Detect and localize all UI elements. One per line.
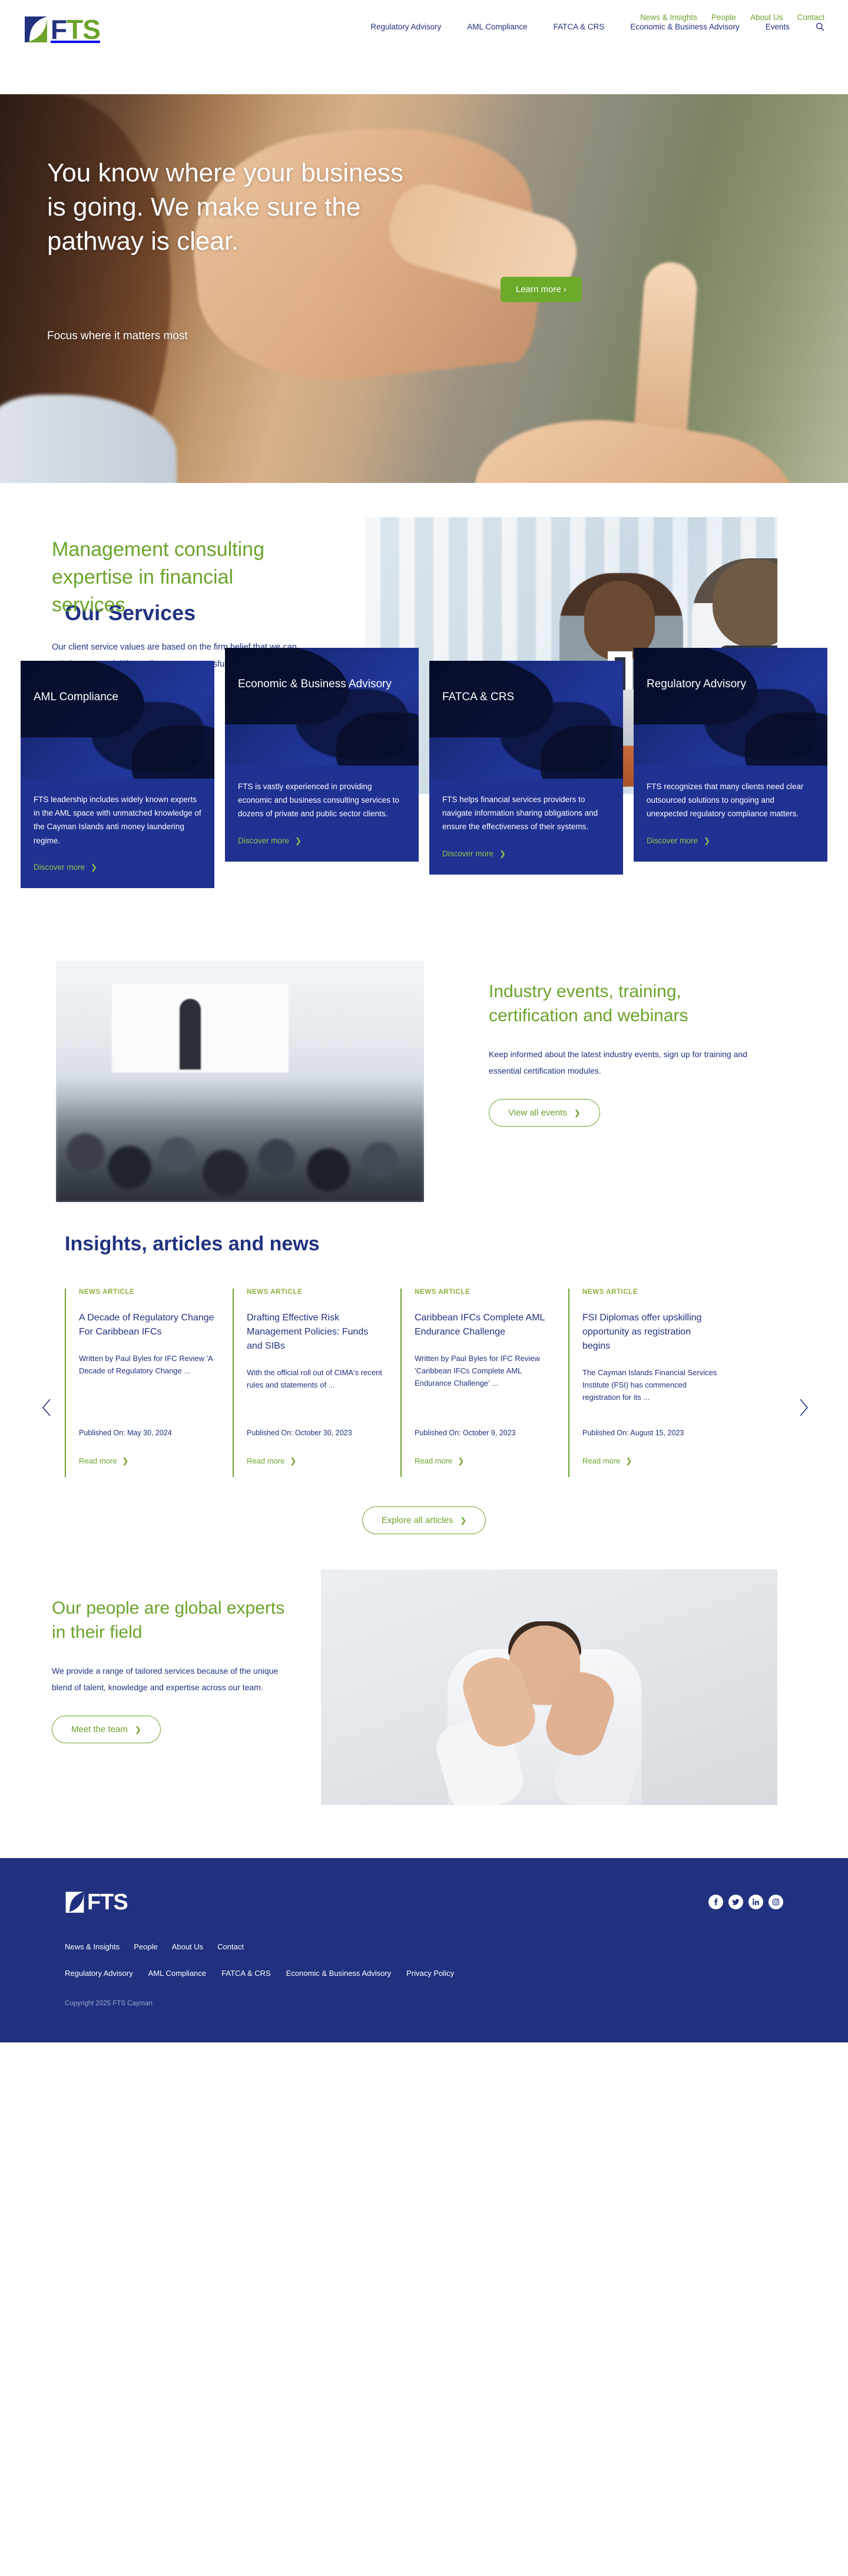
service-card-text: FTS recognizes that many clients need cl… bbox=[647, 780, 814, 821]
footer-nav-item-privacy-policy[interactable]: Privacy Policy bbox=[406, 1969, 454, 1978]
service-card-body: FTS is vastly experienced in providing e… bbox=[225, 766, 419, 862]
chevron-right-icon: ❯ bbox=[704, 837, 710, 845]
article-date: Published On: May 30, 2024 bbox=[79, 1429, 172, 1437]
hero-subtitle: Focus where it matters most bbox=[47, 330, 188, 343]
consulting-heading: Management consulting expertise in finan… bbox=[52, 536, 311, 619]
article-read-more-link[interactable]: Read more ❯ bbox=[79, 1456, 128, 1465]
people-photo bbox=[321, 1570, 777, 1805]
article-date: Published On: October 9, 2023 bbox=[415, 1429, 516, 1437]
article-read-more-link[interactable]: Read more ❯ bbox=[415, 1456, 464, 1465]
chevron-right-icon: ❯ bbox=[290, 1457, 296, 1465]
service-card-body: FTS helps financial services providers t… bbox=[429, 779, 623, 875]
service-card-image: AML Compliance bbox=[21, 661, 214, 779]
footer-logo[interactable]: FTS bbox=[65, 1890, 128, 1914]
service-card-discover-link[interactable]: Discover more ❯ bbox=[442, 849, 506, 858]
service-card-text: FTS leadership includes widely known exp… bbox=[34, 793, 201, 847]
utility-nav: News & Insights People About Us Contact bbox=[640, 13, 824, 22]
footer-nav-item-economic-business-advisory[interactable]: Economic & Business Advisory bbox=[286, 1969, 391, 1978]
events-heading: Industry events, training, certification… bbox=[489, 979, 748, 1028]
article-excerpt: With the official roll out of CIMA's rec… bbox=[247, 1366, 384, 1391]
chevron-right-icon: ❯ bbox=[122, 1457, 128, 1465]
events-section: Industry events, training, certification… bbox=[0, 944, 848, 1197]
chevron-right-icon: ❯ bbox=[458, 1457, 464, 1465]
service-card-text: FTS helps financial services providers t… bbox=[442, 793, 610, 834]
service-card-discover-link[interactable]: Discover more ❯ bbox=[647, 836, 710, 845]
nav-item-regulatory-advisory[interactable]: Regulatory Advisory bbox=[370, 22, 441, 31]
footer-nav-item-aml-compliance[interactable]: AML Compliance bbox=[148, 1969, 207, 1978]
article-kicker: NEWS ARTICLE bbox=[247, 1289, 384, 1296]
utility-nav-item-news-insights[interactable]: News & Insights bbox=[640, 13, 697, 22]
hero-background-photo bbox=[0, 94, 848, 483]
twitter-icon[interactable] bbox=[728, 1895, 743, 1909]
meet-the-team-button[interactable]: Meet the team ❯ bbox=[52, 1716, 161, 1743]
service-card-discover-label: Discover more bbox=[442, 849, 493, 858]
chevron-right-icon: ❯ bbox=[91, 863, 97, 871]
logo-wordmark: FTS bbox=[51, 16, 100, 43]
article-card[interactable]: NEWS ARTICLE A Decade of Regulatory Chan… bbox=[65, 1289, 233, 1477]
view-all-events-button[interactable]: View all events ❯ bbox=[489, 1099, 600, 1127]
nav-item-events[interactable]: Events bbox=[766, 22, 790, 31]
footer-nav-item-people[interactable]: People bbox=[134, 1942, 157, 1951]
service-card-discover-label: Discover more bbox=[238, 836, 289, 845]
service-card-title: AML Compliance bbox=[34, 689, 201, 706]
social-links bbox=[708, 1895, 783, 1909]
logo-letters-ts: TS bbox=[67, 16, 100, 43]
logo-row: FTS bbox=[0, 0, 848, 44]
service-card-discover-link[interactable]: Discover more ❯ bbox=[34, 863, 97, 872]
explore-all-articles-label: Explore all articles bbox=[382, 1515, 453, 1525]
view-all-events-label: View all events bbox=[508, 1108, 567, 1118]
hero-title: You know where your business is going. W… bbox=[47, 156, 412, 259]
footer-nav-item-fatca-crs[interactable]: FATCA & CRS bbox=[221, 1969, 271, 1978]
footer-top-row: FTS bbox=[0, 1890, 848, 1914]
article-kicker: NEWS ARTICLE bbox=[582, 1289, 720, 1296]
footer-primary-nav: News & Insights People About Us Contact bbox=[0, 1914, 848, 1951]
consulting-section: Management consulting expertise in finan… bbox=[0, 483, 848, 583]
nav-item-fatca-crs[interactable]: FATCA & CRS bbox=[554, 22, 605, 31]
service-card-image: FATCA & CRS bbox=[429, 661, 623, 779]
utility-nav-item-about-us[interactable]: About Us bbox=[750, 13, 783, 22]
explore-articles-row: Explore all articles ❯ bbox=[0, 1506, 848, 1534]
service-card-aml-compliance[interactable]: AML Compliance FTS leadership includes w… bbox=[21, 661, 214, 888]
instagram-icon[interactable] bbox=[768, 1895, 783, 1909]
article-excerpt: Written by Paul Byles for IFC Review 'Ca… bbox=[415, 1352, 552, 1389]
article-excerpt: The Cayman Islands Financial Services In… bbox=[582, 1366, 720, 1403]
footer-nav-item-about-us[interactable]: About Us bbox=[172, 1942, 203, 1951]
article-read-more-link[interactable]: Read more ❯ bbox=[582, 1456, 632, 1465]
explore-all-articles-button[interactable]: Explore all articles ❯ bbox=[362, 1506, 486, 1534]
service-card-image: Economic & Business Advisory bbox=[225, 648, 419, 766]
chevron-right-icon: ❯ bbox=[499, 850, 506, 857]
article-read-more-label: Read more bbox=[247, 1456, 284, 1465]
article-card[interactable]: NEWS ARTICLE FSI Diplomas offer upskilli… bbox=[568, 1289, 736, 1477]
article-card[interactable]: NEWS ARTICLE Caribbean IFCs Complete AML… bbox=[400, 1289, 568, 1477]
article-kicker: NEWS ARTICLE bbox=[415, 1289, 552, 1296]
service-card-body: FTS recognizes that many clients need cl… bbox=[634, 766, 827, 862]
article-title: Drafting Effective Risk Management Polic… bbox=[247, 1311, 384, 1353]
service-card-title: Regulatory Advisory bbox=[647, 676, 814, 693]
service-card-economic-business-advisory[interactable]: Economic & Business Advisory FTS is vast… bbox=[225, 648, 419, 862]
footer-logo-wordmark: FTS bbox=[87, 1891, 128, 1913]
article-read-more-label: Read more bbox=[415, 1456, 452, 1465]
hero-learn-more-button[interactable]: Learn more › bbox=[501, 277, 582, 302]
chevron-right-icon: ❯ bbox=[574, 1109, 581, 1117]
article-read-more-link[interactable]: Read more ❯ bbox=[247, 1456, 296, 1465]
footer-secondary-nav: Regulatory Advisory AML Compliance FATCA… bbox=[0, 1951, 848, 1978]
insights-section: Insights, articles and news NEWS ARTICLE… bbox=[0, 1197, 848, 1534]
article-date: Published On: August 15, 2023 bbox=[582, 1429, 684, 1437]
chevron-right-icon: ❯ bbox=[460, 1517, 466, 1524]
service-card-regulatory-advisory[interactable]: Regulatory Advisory FTS recognizes that … bbox=[634, 648, 827, 862]
facebook-icon[interactable] bbox=[708, 1895, 723, 1909]
article-title: A Decade of Regulatory Change For Caribb… bbox=[79, 1311, 216, 1339]
copyright-text: Copyright 2025 FTS Cayman bbox=[0, 1978, 848, 2007]
people-section: Our people are global experts in their f… bbox=[0, 1570, 848, 1823]
logo-letter-f: F bbox=[51, 16, 67, 43]
service-card-discover-label: Discover more bbox=[647, 836, 698, 845]
article-read-more-label: Read more bbox=[582, 1456, 620, 1465]
events-body: Keep informed about the latest industry … bbox=[489, 1046, 748, 1079]
footer-nav-item-regulatory-advisory[interactable]: Regulatory Advisory bbox=[65, 1969, 133, 1978]
article-title: FSI Diplomas offer upskilling opportunit… bbox=[582, 1311, 720, 1353]
events-photo bbox=[56, 961, 424, 1202]
meet-the-team-label: Meet the team bbox=[71, 1724, 128, 1734]
service-card-title: Economic & Business Advisory bbox=[238, 676, 406, 693]
people-body: We provide a range of tailored services … bbox=[52, 1663, 287, 1696]
article-date: Published On: October 30, 2023 bbox=[247, 1429, 352, 1437]
service-card-text: FTS is vastly experienced in providing e… bbox=[238, 780, 406, 821]
service-card-body: FTS leadership includes widely known exp… bbox=[21, 779, 214, 888]
service-card-fatca-crs[interactable]: FATCA & CRS FTS helps financial services… bbox=[429, 661, 623, 875]
fts-logo-mark bbox=[65, 1890, 85, 1914]
utility-nav-item-contact[interactable]: Contact bbox=[797, 13, 824, 22]
site-header: FTS News & Insights People About Us Cont… bbox=[0, 0, 848, 94]
chevron-right-icon: ❯ bbox=[295, 837, 302, 845]
site-footer: FTS News & Insights People About U bbox=[0, 1858, 848, 2042]
utility-nav-item-people[interactable]: People bbox=[711, 13, 736, 22]
fts-logo-mark bbox=[24, 15, 48, 44]
article-read-more-label: Read more bbox=[79, 1456, 117, 1465]
linkedin-icon[interactable] bbox=[748, 1895, 763, 1909]
nav-item-economic-business-advisory[interactable]: Economic & Business Advisory bbox=[630, 22, 739, 31]
events-text-block: Industry events, training, certification… bbox=[489, 979, 748, 1127]
chevron-right-icon: ❯ bbox=[625, 1457, 632, 1465]
service-card-title: FATCA & CRS bbox=[442, 689, 610, 706]
people-text-block: Our people are global experts in their f… bbox=[52, 1596, 287, 1743]
chevron-right-icon: ❯ bbox=[135, 1726, 141, 1733]
footer-nav-item-news-insights[interactable]: News & Insights bbox=[65, 1942, 120, 1951]
article-kicker: NEWS ARTICLE bbox=[79, 1289, 216, 1296]
search-icon[interactable] bbox=[816, 22, 824, 31]
insights-heading: Insights, articles and news bbox=[0, 1233, 848, 1256]
service-card-discover-label: Discover more bbox=[34, 863, 85, 872]
article-card[interactable]: NEWS ARTICLE Drafting Effective Risk Man… bbox=[233, 1289, 400, 1477]
page-root: FTS News & Insights People About Us Cont… bbox=[0, 0, 848, 2042]
article-title: Caribbean IFCs Complete AML Endurance Ch… bbox=[415, 1311, 552, 1339]
site-logo[interactable]: FTS bbox=[24, 15, 100, 44]
primary-nav: Regulatory Advisory AML Compliance FATCA… bbox=[370, 22, 824, 31]
footer-nav-item-contact[interactable]: Contact bbox=[217, 1942, 244, 1951]
article-excerpt: Written by Paul Byles for IFC Review 'A … bbox=[79, 1352, 216, 1377]
people-heading: Our people are global experts in their f… bbox=[52, 1596, 287, 1645]
articles-carousel: NEWS ARTICLE A Decade of Regulatory Chan… bbox=[0, 1256, 848, 1477]
nav-item-aml-compliance[interactable]: AML Compliance bbox=[467, 22, 527, 31]
service-card-image: Regulatory Advisory bbox=[634, 648, 827, 766]
hero-banner: You know where your business is going. W… bbox=[0, 94, 848, 483]
service-card-discover-link[interactable]: Discover more ❯ bbox=[238, 836, 302, 845]
